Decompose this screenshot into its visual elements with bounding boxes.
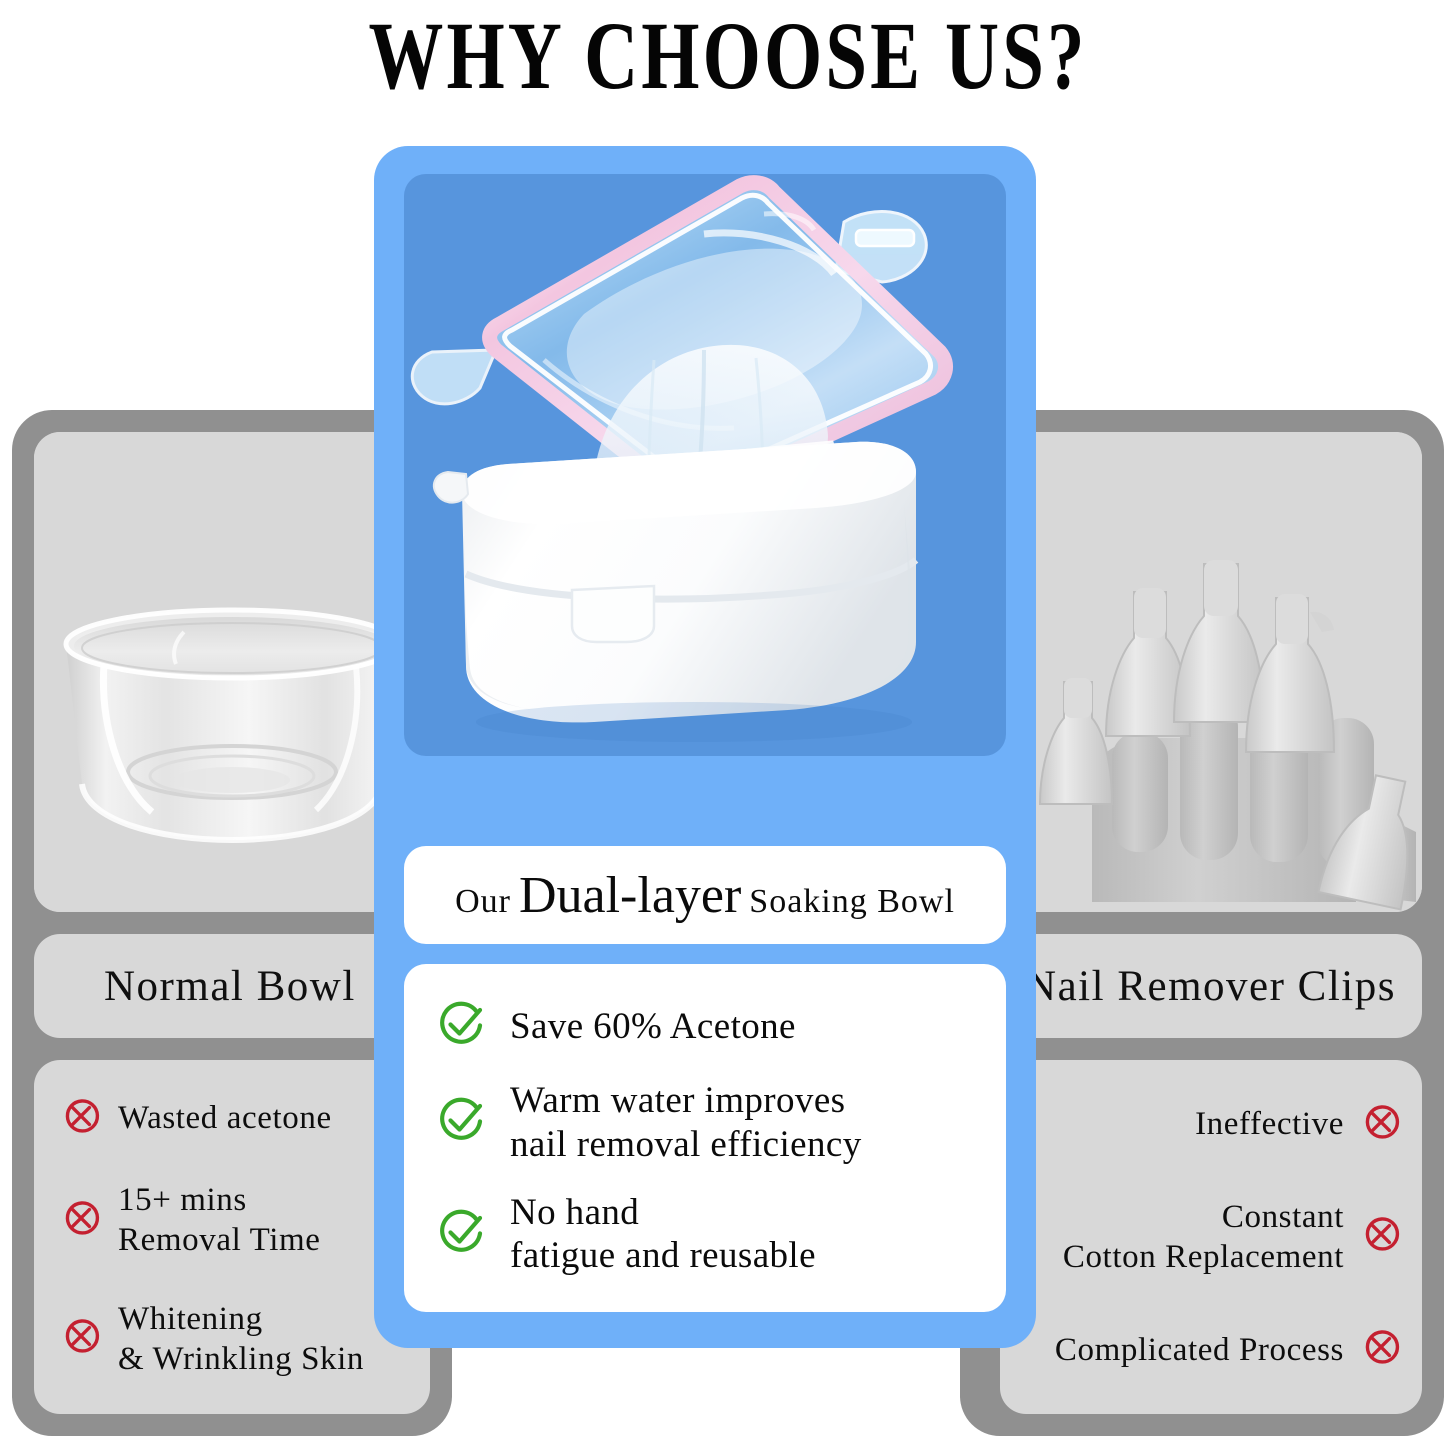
list-item-label: 15+ mins Removal Time <box>118 1180 320 1261</box>
left-label-bar: Normal Bowl <box>34 934 430 1038</box>
product-title-suffix: Soaking Bowl <box>749 883 955 921</box>
circle-check-icon <box>436 1206 488 1263</box>
list-item-label: Save 60% Acetone <box>510 1005 796 1049</box>
circle-cross-icon <box>1360 1326 1402 1373</box>
nail-remover-clips-photo <box>1000 432 1422 912</box>
circle-cross-icon <box>1360 1101 1402 1148</box>
featured-product-card: Our Dual-layer Soaking Bowl Save 60% Ace… <box>374 146 1036 1348</box>
circle-cross-icon <box>60 1095 102 1142</box>
right-column-label: Nail Remover Clips <box>1000 934 1422 1038</box>
list-item: Ineffective <box>1000 1101 1422 1148</box>
list-item-label: Ineffective <box>1195 1104 1344 1144</box>
list-item: Complicated Process <box>1000 1326 1422 1373</box>
list-item: Wasted acetone <box>34 1095 430 1142</box>
circle-check-icon <box>436 998 488 1055</box>
list-item-label: Whitening & Wrinkling Skin <box>118 1299 364 1380</box>
list-item: Save 60% Acetone <box>436 998 1006 1055</box>
right-label-bar: Nail Remover Clips <box>1000 934 1422 1038</box>
list-item: Whitening & Wrinkling Skin <box>34 1299 430 1380</box>
page-title: WHY CHOOSE US? <box>160 2 1296 110</box>
list-item: Constant Cotton Replacement <box>1000 1197 1422 1278</box>
circle-check-icon <box>436 1094 488 1151</box>
product-title-highlight: Dual-layer <box>511 866 749 925</box>
product-benefits-panel: Save 60% Acetone Warm water improves nai… <box>404 964 1006 1312</box>
list-item-label: Complicated Process <box>1055 1330 1344 1370</box>
circle-cross-icon <box>1360 1213 1402 1260</box>
list-item: Warm water improves nail removal efficie… <box>436 1079 1006 1166</box>
list-item-label: Constant Cotton Replacement <box>1063 1197 1344 1278</box>
list-item: 15+ mins Removal Time <box>34 1180 430 1261</box>
product-title-prefix: Our <box>455 883 511 921</box>
product-photo <box>404 174 1006 756</box>
list-item-label: No hand fatigue and reusable <box>510 1191 816 1278</box>
circle-cross-icon <box>60 1315 102 1362</box>
normal-bowl-photo <box>34 432 430 912</box>
circle-cross-icon <box>60 1197 102 1244</box>
list-item-label: Warm water improves nail removal efficie… <box>510 1079 862 1166</box>
left-column-label: Normal Bowl <box>34 934 430 1038</box>
right-drawbacks-panel: Ineffective Constant Cotton Replacement … <box>1000 1060 1422 1414</box>
left-drawbacks-panel: Wasted acetone 15+ mins Removal Time Whi… <box>34 1060 430 1414</box>
list-item-label: Wasted acetone <box>118 1098 332 1138</box>
product-title-pill: Our Dual-layer Soaking Bowl <box>404 846 1006 944</box>
infographic-root: WHY CHOOSE US? <box>0 0 1456 1456</box>
list-item: No hand fatigue and reusable <box>436 1191 1006 1278</box>
